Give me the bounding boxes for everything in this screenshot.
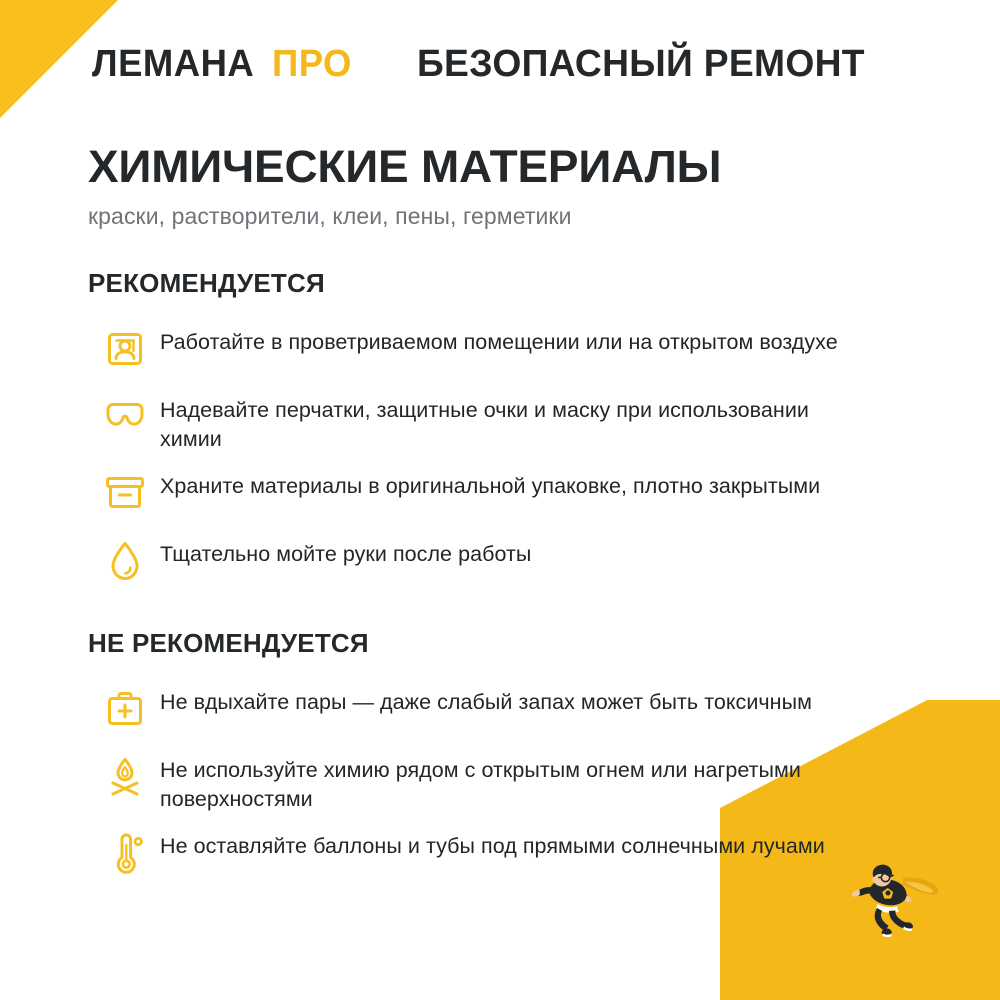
list-item: Не используйте химию рядом с открытым ог… (88, 749, 945, 813)
list-item-text: Не используйте химию рядом с открытым ог… (160, 749, 860, 813)
brand-logo: ЛЕМАНА ПРО (92, 43, 355, 86)
page-title: ХИМИЧЕСКИЕ МАТЕРИАЛЫ (88, 143, 957, 191)
flying-superhero-mascot (825, 842, 965, 952)
list-item-text: Храните материалы в оригинальной упаковк… (160, 465, 860, 501)
logo-main-text: ЛЕМАНА (92, 43, 254, 86)
storage-box-icon (88, 465, 160, 521)
list-item-text: Надевайте перчатки, защитные очки и маск… (160, 389, 860, 453)
section-not-recommended: НЕ РЕКОМЕНДУЕТСЯ Не вдыхайте пары — даже… (88, 628, 945, 881)
campaign-title: БЕЗОПАСНЫЙ РЕМОНТ (417, 43, 865, 86)
list-item-text: Работайте в проветриваемом помещении или… (160, 321, 860, 357)
section-recommended: РЕКОМЕНДУЕТСЯ Работайте в проветриваемом… (88, 268, 945, 589)
campfire-icon (88, 749, 160, 805)
list-item: Надевайте перчатки, защитные очки и маск… (88, 389, 945, 453)
recommended-list: Работайте в проветриваемом помещении или… (88, 321, 945, 589)
safety-goggles-icon (88, 389, 160, 445)
list-item: Храните материалы в оригинальной упаковк… (88, 465, 945, 521)
list-item: Не вдыхайте пары — даже слабый запах мож… (88, 681, 945, 737)
water-drop-icon (88, 533, 160, 589)
section-heading-not-recommended: НЕ РЕКОМЕНДУЕТСЯ (88, 628, 945, 659)
first-aid-kit-icon (88, 681, 160, 737)
list-item: Работайте в проветриваемом помещении или… (88, 321, 945, 377)
title-block: ХИМИЧЕСКИЕ МАТЕРИАЛЫ краски, растворител… (88, 143, 940, 230)
page-subtitle: краски, растворители, клеи, пены, гермет… (88, 203, 940, 230)
list-item: Не оставляйте баллоны и тубы под прямыми… (88, 825, 945, 881)
section-heading-recommended: РЕКОМЕНДУЕТСЯ (88, 268, 945, 299)
ventilated-room-icon (88, 321, 160, 377)
thermometer-icon (88, 825, 160, 881)
list-item-text: Не оставляйте баллоны и тубы под прямыми… (160, 825, 860, 861)
list-item-text: Не вдыхайте пары — даже слабый запах мож… (160, 681, 860, 717)
list-item-text: Тщательно мойте руки после работы (160, 533, 860, 569)
list-item: Тщательно мойте руки после работы (88, 533, 945, 589)
poster-root: ЛЕМАНА ПРО БЕЗОПАСНЫЙ РЕМОНТ ХИМИЧЕСКИЕ … (0, 0, 1000, 1000)
logo-pro-text: ПРО (272, 43, 352, 86)
not-recommended-list: Не вдыхайте пары — даже слабый запах мож… (88, 681, 945, 881)
header: ЛЕМАНА ПРО БЕЗОПАСНЫЙ РЕМОНТ (92, 38, 940, 90)
